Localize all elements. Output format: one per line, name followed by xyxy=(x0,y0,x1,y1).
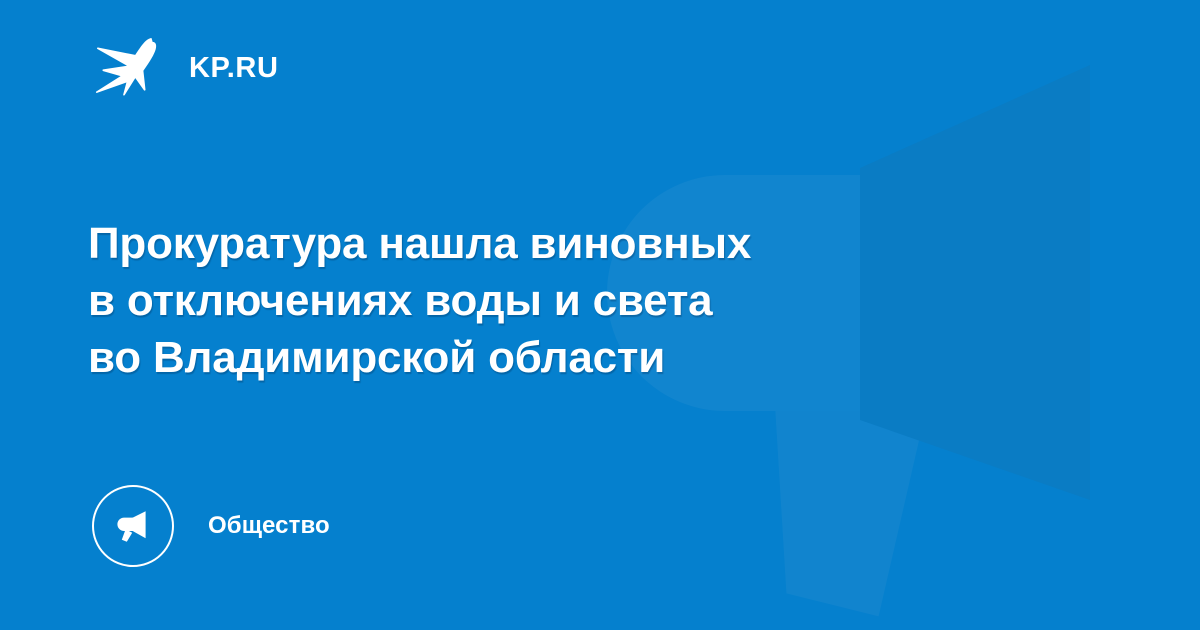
category-badge[interactable]: Общество xyxy=(92,483,330,569)
swallow-bird-icon xyxy=(93,36,167,100)
brand-name: KP.RU xyxy=(189,54,279,83)
category-icon-circle xyxy=(92,485,174,567)
social-share-card: KP.RU Прокуратура нашла виновных в отклю… xyxy=(0,0,1200,630)
headline-line-1: Прокуратура нашла виновных xyxy=(88,215,988,272)
megaphone-icon xyxy=(112,505,154,547)
headline-line-3: во Владимирской области xyxy=(88,329,988,386)
headline-line-2: в отключениях воды и света xyxy=(88,272,988,329)
category-label: Общество xyxy=(208,514,330,538)
page-title: Прокуратура нашла виновных в отключениях… xyxy=(88,215,988,386)
brand-logo[interactable]: KP.RU xyxy=(93,36,279,100)
